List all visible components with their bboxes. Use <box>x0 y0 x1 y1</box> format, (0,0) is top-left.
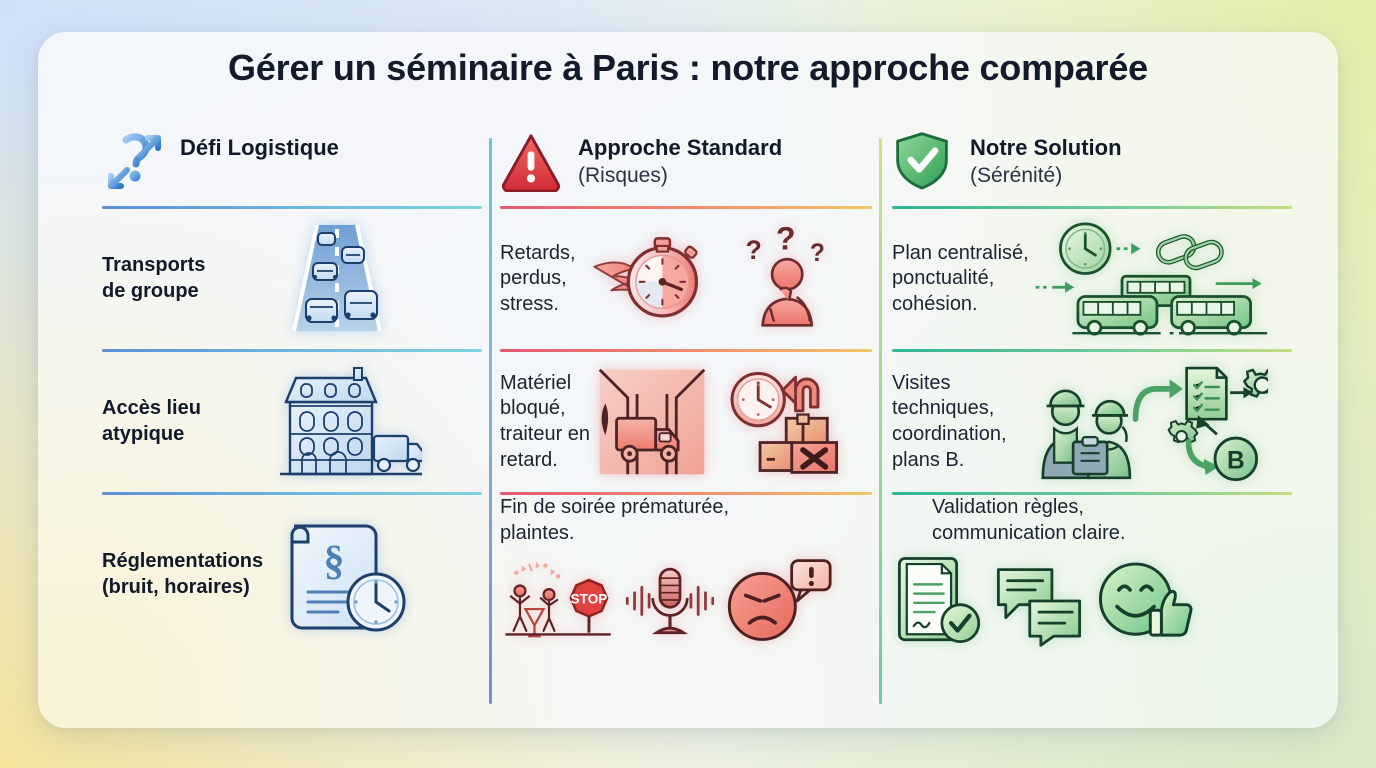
column-header-solution: Notre Solution (Sérénité) <box>892 110 1292 206</box>
row-transport-solution: Plan centralisé, ponctualité, cohésion. <box>892 209 1292 349</box>
column-header-text-solution: Notre Solution (Sérénité) <box>970 130 1122 188</box>
column-subheading: (Sérénité) <box>970 163 1122 188</box>
chat-bubbles-icon <box>992 553 1086 654</box>
row-venue-challenge: Accès lieu atypique <box>102 352 482 492</box>
shield-check-icon <box>892 130 956 194</box>
column-header-challenge: Défi Logistique <box>102 110 482 206</box>
confused-person-icon: ? ? ? <box>738 227 872 331</box>
column-header-text-standard: Approche Standard (Risques) <box>578 130 782 188</box>
column-header-standard: Approche Standard (Risques) <box>500 110 872 206</box>
page-title: Gérer un séminaire à Paris : notre appro… <box>0 47 1376 89</box>
column-heading: Défi Logistique <box>180 136 339 161</box>
question-arrows-icon <box>102 130 166 194</box>
row-transport-challenge: Transports de groupe <box>102 209 482 349</box>
party-people-stop-sign-icon: STOP <box>500 558 618 647</box>
svg-text:?: ? <box>746 235 762 265</box>
svg-text:§: § <box>324 538 345 584</box>
row-transport-standard: Retards, perdus, stress. <box>500 209 872 349</box>
standard-label: Fin de soirée prématurée, plaintes. <box>500 495 729 546</box>
svg-text:B: B <box>1227 447 1245 474</box>
column-heading: Approche Standard <box>578 136 782 161</box>
standard-label: Matériel bloqué, traiteur en retard. <box>500 371 596 473</box>
angry-face-icon <box>722 555 832 650</box>
row-venue-standard: Matériel bloqué, traiteur en retard. <box>500 352 872 492</box>
solution-label: Plan centralisé, ponctualité, cohésion. <box>892 241 1032 318</box>
warning-triangle-icon <box>500 130 564 194</box>
solution-label: Visites techniques, coordination, plans … <box>892 371 1022 473</box>
infographic-canvas: Gérer un séminaire à Paris : notre appro… <box>0 0 1376 768</box>
microphone-soundwave-icon <box>620 558 720 647</box>
clock-return-boxes-icon <box>728 366 872 478</box>
column-heading: Notre Solution <box>970 136 1122 161</box>
site-coordination-icon: B <box>1022 360 1292 484</box>
row-regulations-challenge: Réglementations (bruit, horaires) § <box>102 495 482 655</box>
challenge-label: Réglementations (bruit, horaires) <box>102 549 272 600</box>
column-header-text-challenge: Défi Logistique <box>180 130 339 161</box>
legal-scroll-paragraph-icon: § <box>272 510 482 640</box>
coach-fleet-clock-chain-icon <box>1032 219 1292 339</box>
challenge-label: Transports de groupe <box>102 253 272 304</box>
row-venue-solution: Visites techniques, coordination, plans … <box>892 352 1292 492</box>
column-subheading: (Risques) <box>578 163 782 188</box>
truck-stuck-narrow-street-icon <box>596 366 730 478</box>
haussmann-building-icon <box>272 360 482 485</box>
svg-text:?: ? <box>776 227 796 257</box>
challenge-label: Accès lieu atypique <box>102 396 272 447</box>
smiley-thumbs-up-icon <box>1090 553 1194 654</box>
column-challenge: Défi Logistique Transports de groupe <box>102 110 482 655</box>
svg-text:STOP: STOP <box>571 592 608 607</box>
solution-label: Validation règles, communication claire. <box>932 495 1125 546</box>
winged-stopwatch-icon <box>590 227 744 331</box>
highway-traffic-icon <box>272 219 482 339</box>
row-regulations-solution: Validation règles, communication claire. <box>892 495 1292 655</box>
standard-label: Retards, perdus, stress. <box>500 241 590 318</box>
row-regulations-standard: Fin de soirée prématurée, plaintes. <box>500 495 872 655</box>
column-standard: Approche Standard (Risques) Retards, per… <box>500 110 872 655</box>
svg-text:?: ? <box>810 240 825 267</box>
signed-document-check-icon <box>892 553 988 654</box>
column-solution: Notre Solution (Sérénité) Plan centralis… <box>892 110 1292 655</box>
